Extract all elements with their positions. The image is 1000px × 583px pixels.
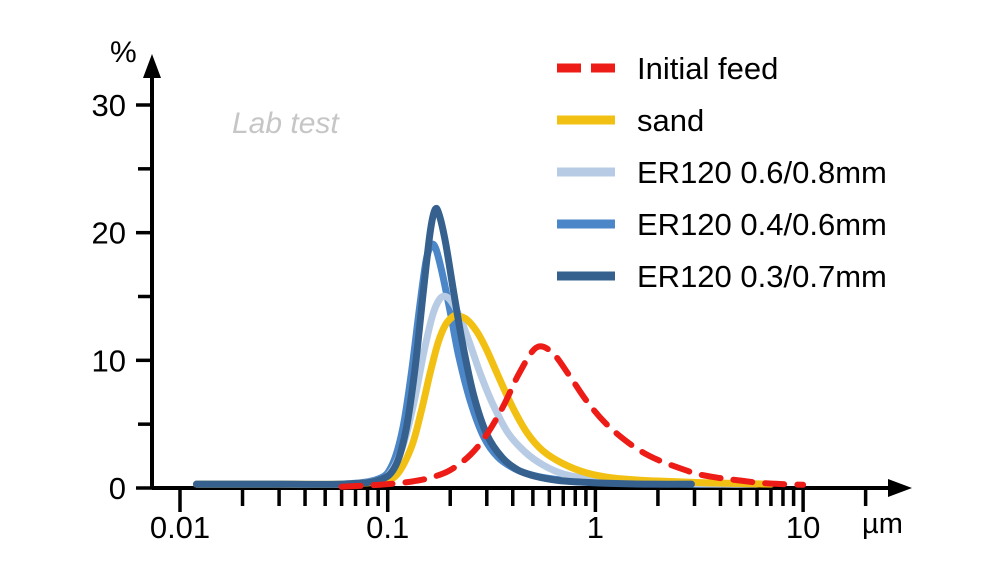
x-axis-unit-label: µm	[862, 508, 903, 540]
x-tick-label: 0.1	[366, 510, 409, 545]
curve-series	[196, 315, 770, 484]
legend-label: ER120 0.3/0.7mm	[637, 259, 887, 294]
x-tick-label: 10	[786, 510, 820, 545]
data-curves-group	[196, 208, 803, 486]
y-tick-label: 0	[109, 471, 126, 506]
particle-size-distribution-chart: 0102030 0.010.1110 % µm Lab test Initial…	[0, 0, 1000, 583]
legend-label: Initial feed	[637, 51, 778, 86]
curve-series	[196, 296, 757, 484]
y-tick-label: 30	[92, 88, 126, 123]
x-axis-tick-labels: 0.010.1110	[150, 510, 821, 545]
legend-item[interactable]: Initial feed	[557, 51, 778, 86]
legend-label: ER120 0.4/0.6mm	[637, 207, 887, 242]
legend-item[interactable]: sand	[557, 103, 704, 138]
y-axis-tick-labels: 0102030	[92, 88, 126, 506]
lab-test-annotation: Lab test	[232, 107, 340, 140]
y-axis-arrowhead	[143, 54, 161, 78]
x-axis-ticks	[180, 488, 866, 512]
legend-item[interactable]: ER120 0.3/0.7mm	[557, 259, 887, 294]
y-tick-label: 10	[92, 343, 126, 378]
x-tick-label: 1	[587, 510, 604, 545]
legend-label: sand	[637, 103, 704, 138]
chart-container: 0102030 0.010.1110 % µm Lab test Initial…	[0, 0, 1000, 583]
x-axis-arrowhead	[888, 479, 912, 497]
legend-item[interactable]: ER120 0.4/0.6mm	[557, 207, 887, 242]
curve-series	[196, 208, 691, 484]
chart-legend: Initial feedsandER120 0.6/0.8mmER120 0.4…	[557, 51, 887, 294]
legend-item[interactable]: ER120 0.6/0.8mm	[557, 155, 887, 190]
legend-label: ER120 0.6/0.8mm	[637, 155, 887, 190]
y-axis-unit-label: %	[110, 36, 137, 69]
x-tick-label: 0.01	[150, 510, 210, 545]
y-tick-label: 20	[92, 216, 126, 251]
y-axis-ticks	[136, 105, 152, 488]
